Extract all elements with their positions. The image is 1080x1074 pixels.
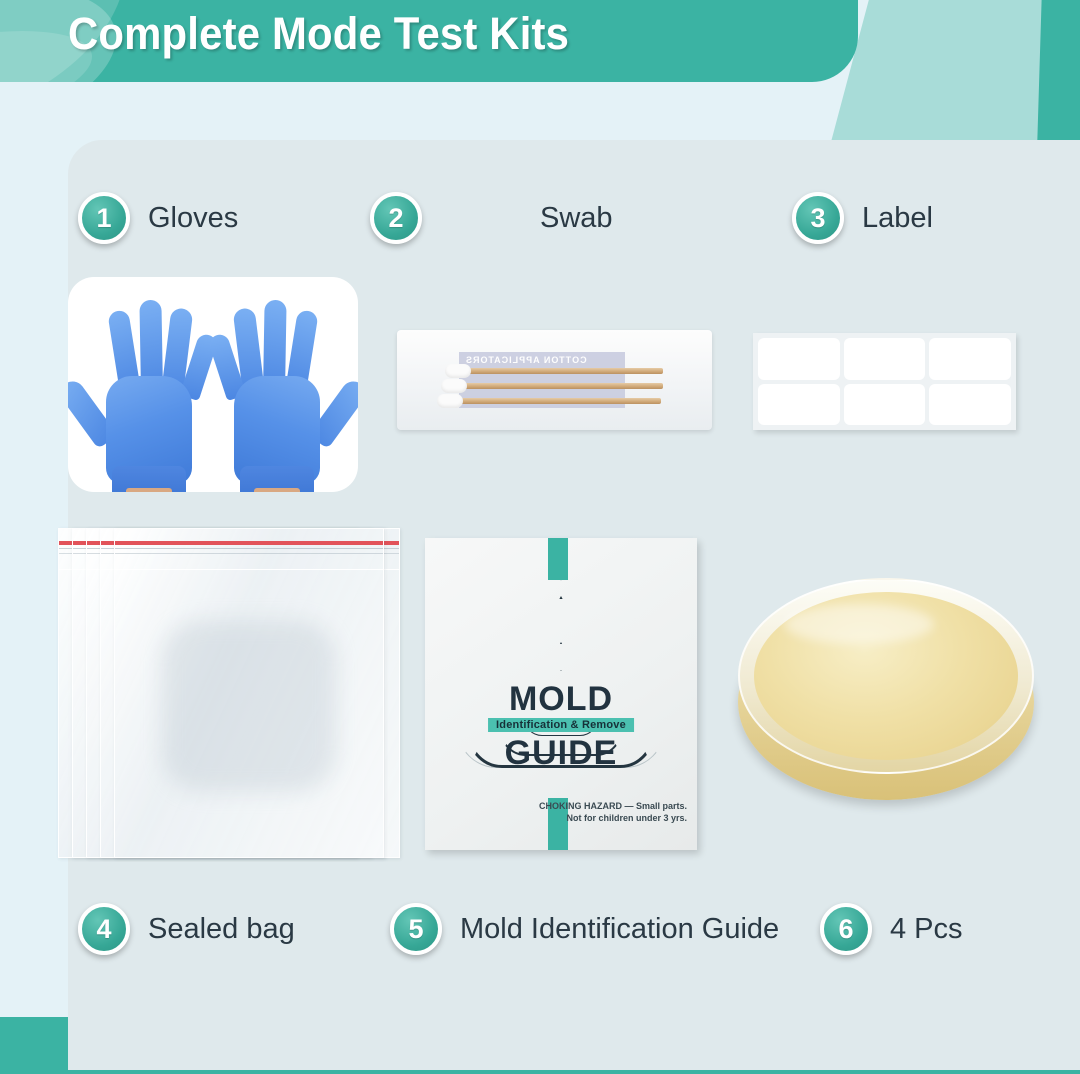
step-badge-2: 2 xyxy=(370,192,422,244)
bag-seal-line xyxy=(115,553,383,554)
caption-label-pcs: 4 Pcs xyxy=(890,913,963,946)
swab-stick xyxy=(459,383,663,389)
swab-cotton-tip xyxy=(437,394,463,408)
caption-row-top: 1 Gloves 2 Swab 3 Label xyxy=(78,192,933,244)
glove-wrist xyxy=(254,488,300,492)
bag-haze xyxy=(163,621,335,792)
glove-right xyxy=(218,295,336,492)
caption-pcs: 6 4 Pcs xyxy=(820,903,963,955)
swab-stick xyxy=(463,368,663,374)
label-cell xyxy=(844,338,926,380)
step-badge-4: 4 xyxy=(78,903,130,955)
petri-dish-gloss xyxy=(784,604,934,644)
booklet-subtitle: Identification & Remove xyxy=(488,718,634,732)
booklet-title-guide: GUIDE xyxy=(425,734,697,773)
booklet-warning-line2: Not for children under 3 yrs. xyxy=(539,812,687,824)
caption-label-sheet: 3 Label xyxy=(792,192,933,244)
bag-seal-line xyxy=(115,548,383,549)
glove-wrist xyxy=(126,488,172,492)
caption-label-gloves: Gloves xyxy=(148,202,238,235)
step-badge-1: 1 xyxy=(78,192,130,244)
booklet-band-top xyxy=(548,538,568,580)
step-badge-3: 3 xyxy=(792,192,844,244)
guide-booklet-icon: MOLD Identification & Remove GUIDE CHOKI… xyxy=(425,538,697,850)
swab-pack-printed-text: COTTON APPLICATORS xyxy=(465,355,587,365)
caption-label-sealed-bag: Sealed bag xyxy=(148,913,295,946)
glove-left xyxy=(90,295,208,492)
caption-swab: 2 Swab xyxy=(370,192,792,244)
step-badge-5: 5 xyxy=(390,903,442,955)
petri-dish-icon xyxy=(738,578,1034,818)
header-banner: Complete Mode Test Kits xyxy=(0,0,858,82)
swab-cotton-tip xyxy=(445,364,471,378)
caption-label-label: Label xyxy=(862,202,933,235)
label-sheet-icon xyxy=(753,333,1016,430)
swab-cotton-tip xyxy=(441,379,467,393)
booklet-warning: CHOKING HAZARD — Small parts. Not for ch… xyxy=(539,800,687,824)
product-infographic: Complete Mode Test Kits 1 Gloves 2 Swab … xyxy=(0,0,1080,1074)
caption-gloves: 1 Gloves xyxy=(78,192,370,244)
caption-mold-guide: 5 Mold Identification Guide xyxy=(390,903,820,955)
caption-sealed-bag: 4 Sealed bag xyxy=(78,903,390,955)
caption-label-mold-guide: Mold Identification Guide xyxy=(460,913,779,946)
label-cell xyxy=(758,338,840,380)
label-cell xyxy=(929,338,1011,380)
step-badge-6: 6 xyxy=(820,903,872,955)
ziplock-bag-icon xyxy=(58,528,388,858)
caption-label-swab: Swab xyxy=(540,202,613,235)
caption-row-bottom: 4 Sealed bag 5 Mold Identification Guide… xyxy=(78,903,963,955)
nitrile-gloves-icon xyxy=(68,277,358,492)
booklet-title-mold: MOLD xyxy=(425,680,697,719)
bag-seal-line xyxy=(115,541,383,545)
label-cell xyxy=(844,384,926,426)
label-cell xyxy=(758,384,840,426)
swab-stick xyxy=(455,398,661,404)
sealed-bag xyxy=(114,528,384,858)
cotton-swab-pack-icon: COTTON APPLICATORS xyxy=(397,330,712,430)
bag-fold-line xyxy=(115,569,383,570)
booklet-warning-line1: CHOKING HAZARD — Small parts. xyxy=(539,800,687,812)
page-title: Complete Mode Test Kits xyxy=(68,8,569,60)
label-cell xyxy=(929,384,1011,426)
